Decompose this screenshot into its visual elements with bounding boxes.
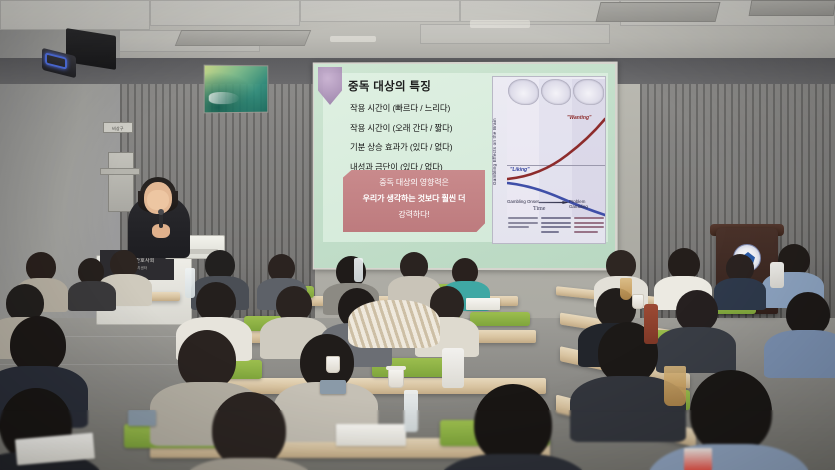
chart-note-columns	[507, 216, 605, 236]
fire-hose-cabinet	[108, 152, 134, 212]
gambling-effects-chart: Gambling Effects on the Brain "Wanting" …	[492, 76, 606, 244]
presenter-face	[147, 190, 169, 210]
presentation-slide: 중독 대상의 특징 작용 시간이 (빠르다 / 느리다) 작용 시간이 (오래 …	[314, 64, 615, 268]
smartphone	[128, 410, 156, 426]
head	[178, 330, 236, 390]
thermos	[644, 304, 658, 344]
shoulders	[714, 278, 766, 310]
head	[474, 384, 552, 464]
ceiling-light	[470, 20, 530, 28]
iced-coffee-cup	[620, 278, 632, 300]
exit-sign: 비상구	[103, 122, 133, 133]
brain-icon	[508, 79, 539, 105]
chart-series-label-liking: "Liking"	[510, 167, 529, 173]
green-wave-banner	[204, 65, 269, 114]
slide-bullet: 기분 상승 효과가 (있다 / 없다)	[350, 141, 482, 153]
fire-hose-bracket	[100, 168, 140, 175]
lecture-hall-photo: 비상구 중독 대상의 특징 작용 시간이 (빠르다 / 느리다) 작용 시간이 …	[0, 0, 835, 470]
brain-icon	[573, 79, 604, 105]
brain-image-row	[507, 79, 605, 105]
highlight-line-3: 강력하다!	[349, 209, 479, 220]
notebook	[336, 424, 406, 446]
head	[690, 370, 772, 454]
chart-x-tick-onset: Gambling Onset	[507, 199, 539, 204]
highlight-line-1: 중독 대상의 영향력은	[349, 177, 479, 188]
paper-coffee-cup	[326, 356, 340, 373]
slide-bullet: 작용 시간이 (오래 간다 / 짧다)	[350, 122, 482, 134]
air-vent	[749, 0, 835, 16]
chair-back	[470, 312, 530, 326]
slide-bullet: 작용 시간이 (빠르다 / 느리다)	[350, 102, 482, 114]
iced-coffee-cup	[664, 366, 686, 406]
water-bottle	[185, 268, 195, 298]
air-vent	[175, 30, 311, 46]
highlight-line-2: 우리가 생각하는 것보다 훨씬 더	[349, 193, 479, 204]
ceiling-light	[330, 36, 376, 42]
shoulders	[764, 330, 835, 378]
air-vent	[596, 2, 721, 22]
patterned-backpack	[348, 300, 440, 348]
tumbler	[442, 348, 464, 388]
chart-note-column	[573, 216, 605, 236]
juice-carton	[684, 448, 712, 470]
shoulders	[68, 281, 116, 311]
notebook	[466, 298, 500, 310]
head	[196, 282, 236, 322]
chart-series-label-wanting: "Wanting"	[567, 115, 591, 121]
water-bottle	[404, 390, 418, 432]
chart-note-column	[540, 216, 572, 236]
slide-bullet-list: 작용 시간이 (빠르다 / 느리다) 작용 시간이 (오래 간다 / 짧다) 기…	[350, 102, 482, 180]
paper-coffee-cup	[388, 368, 404, 388]
paper-coffee-cup	[632, 294, 644, 309]
cup-lid	[386, 366, 406, 370]
tumbler	[770, 262, 784, 288]
slide-highlight-box: 중독 대상의 영향력은 우리가 생각하는 것보다 훨씬 더 강력하다!	[343, 170, 485, 232]
water-bottle	[354, 258, 363, 282]
slide-title: 중독 대상의 특징	[348, 78, 431, 94]
microphone-icon	[159, 212, 163, 228]
head	[676, 290, 718, 332]
chart-x-tick-problem: Problem Gambling	[569, 199, 605, 209]
ceiling	[0, 0, 835, 62]
chart-y-axis-label: Gambling Effects on the Brain	[492, 91, 504, 213]
head	[212, 392, 286, 468]
smartphone	[320, 380, 346, 394]
chart-note-column	[507, 216, 539, 236]
brain-icon	[541, 79, 572, 105]
chart-x-axis-label: Time	[533, 206, 545, 212]
